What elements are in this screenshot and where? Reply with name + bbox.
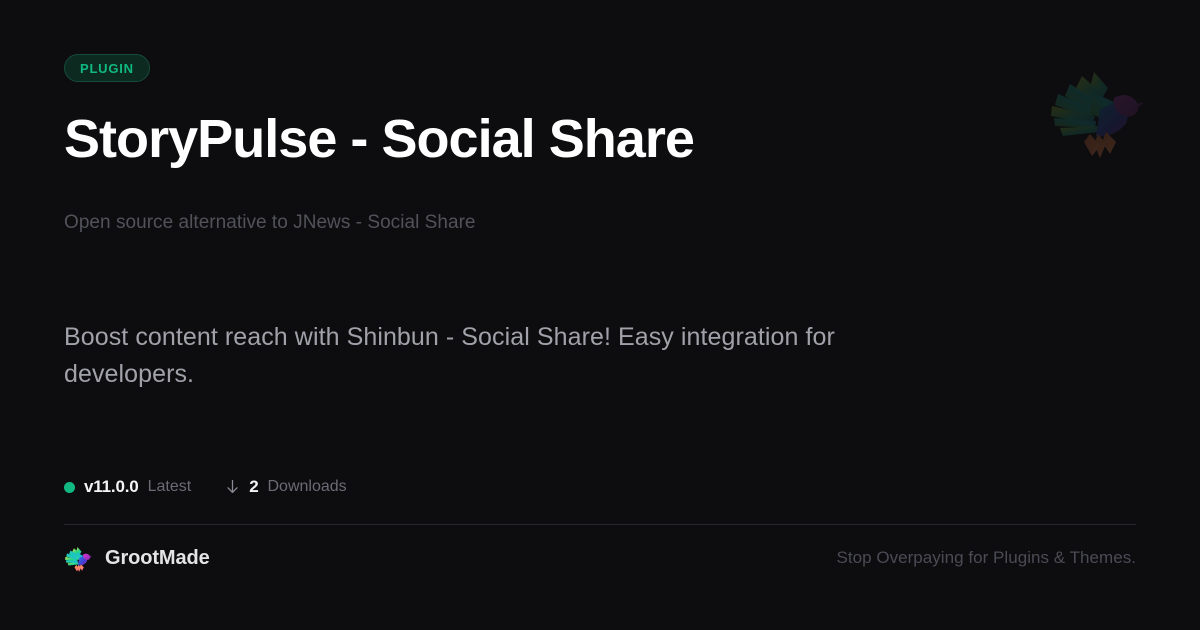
version-label: Latest [148,478,192,496]
footer: GrootMade Stop Overpaying for Plugins & … [64,541,1136,575]
version-value: v11.0.0 [84,477,139,497]
downloads-label: Downloads [267,478,346,496]
plugin-description: Boost content reach with Shinbun - Socia… [64,319,864,393]
footer-tagline: Stop Overpaying for Plugins & Themes. [836,548,1136,568]
downloads-count: 2 [249,477,258,497]
page-subtitle: Open source alternative to JNews - Socia… [64,210,1136,237]
brand: GrootMade [64,543,210,573]
page-title: StoryPulse - Social Share [64,110,1136,168]
footer-divider [64,524,1136,525]
status-badge: PLUGIN [64,54,150,82]
hummingbird-logo-icon [64,543,92,573]
meta-row: v11.0.0 Latest 2 Downloads [64,476,1136,498]
status-dot-icon [64,482,75,493]
og-card: PLUGIN StoryPulse - Social Share Open so… [0,0,1200,630]
brand-name: GrootMade [105,547,210,570]
badge-row: PLUGIN [64,54,1136,82]
version-meta: v11.0.0 Latest [64,477,191,497]
download-arrow-icon [225,479,240,495]
downloads-meta: 2 Downloads [225,477,346,497]
